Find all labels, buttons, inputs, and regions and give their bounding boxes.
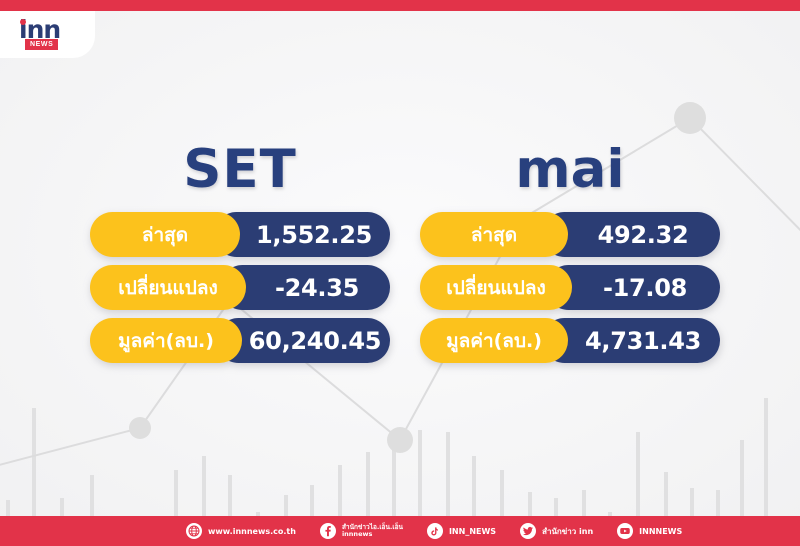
inn-logo: inn NEWS — [19, 18, 69, 52]
footer-label-twitter: สำนักข่าว inn — [542, 527, 593, 536]
twitter-icon — [520, 523, 536, 539]
data-row-set-value: มูลค่า(ลบ.) 60,240.45 — [90, 318, 390, 363]
footer-label-facebook: สำนักข่าวไอ.เอ็น.เอ็นinnnews — [342, 524, 403, 539]
data-row-set-latest: ล่าสุด 1,552.25 — [90, 212, 390, 257]
index-block-set: SET ล่าสุด 1,552.25 เปลี่ยนแปลง -24.35 ม… — [90, 140, 390, 371]
index-block-mai: mai ล่าสุด 492.32 เปลี่ยนแปลง -17.08 มูล… — [420, 140, 720, 371]
row-value-set-latest: 1,552.25 — [214, 212, 390, 257]
index-title-mai: mai — [420, 140, 720, 212]
row-label-mai-value: มูลค่า(ลบ.) — [420, 318, 568, 363]
globe-icon — [186, 523, 202, 539]
row-value-mai-change: -17.08 — [546, 265, 720, 310]
footer-label-tiktok: INN_NEWS — [449, 527, 496, 536]
footer-label-youtube: INNNEWS — [639, 527, 682, 536]
row-value-mai-latest: 492.32 — [542, 212, 720, 257]
footer-label-facebook-line2: innnews — [342, 530, 372, 538]
tiktok-icon — [427, 523, 443, 539]
logo-dot-icon — [20, 19, 26, 25]
row-label-mai-change: เปลี่ยนแปลง — [420, 265, 572, 310]
data-row-mai-change: เปลี่ยนแปลง -17.08 — [420, 265, 720, 310]
index-title-set: SET — [90, 140, 390, 212]
logo-news-badge: NEWS — [25, 39, 58, 50]
footer-social-bar: www.innnews.co.th สำนักข่าวไอ.เอ็น.เอ็นi… — [0, 516, 800, 546]
footer-label-website: www.innnews.co.th — [208, 527, 296, 536]
logo-plate: inn NEWS — [0, 11, 95, 58]
infographic-canvas: inn NEWS SET ล่าสุด 1,552.25 เปลี่ยนแปลง… — [0, 0, 800, 546]
row-label-set-change: เปลี่ยนแปลง — [90, 265, 246, 310]
row-value-set-value: 60,240.45 — [216, 318, 390, 363]
facebook-icon — [320, 523, 336, 539]
footer-item-facebook[interactable]: สำนักข่าวไอ.เอ็น.เอ็นinnnews — [320, 523, 403, 539]
top-accent-bar — [0, 0, 800, 11]
data-row-mai-latest: ล่าสุด 492.32 — [420, 212, 720, 257]
youtube-icon — [617, 523, 633, 539]
footer-item-twitter[interactable]: สำนักข่าว inn — [520, 523, 593, 539]
row-label-set-value: มูลค่า(ลบ.) — [90, 318, 242, 363]
data-row-set-change: เปลี่ยนแปลง -24.35 — [90, 265, 390, 310]
footer-item-youtube[interactable]: INNNEWS — [617, 523, 682, 539]
row-label-mai-latest: ล่าสุด — [420, 212, 568, 257]
row-value-mai-value: 4,731.43 — [542, 318, 720, 363]
data-row-mai-value: มูลค่า(ลบ.) 4,731.43 — [420, 318, 720, 363]
row-label-set-latest: ล่าสุด — [90, 212, 240, 257]
footer-item-tiktok[interactable]: INN_NEWS — [427, 523, 496, 539]
footer-item-website[interactable]: www.innnews.co.th — [186, 523, 296, 539]
